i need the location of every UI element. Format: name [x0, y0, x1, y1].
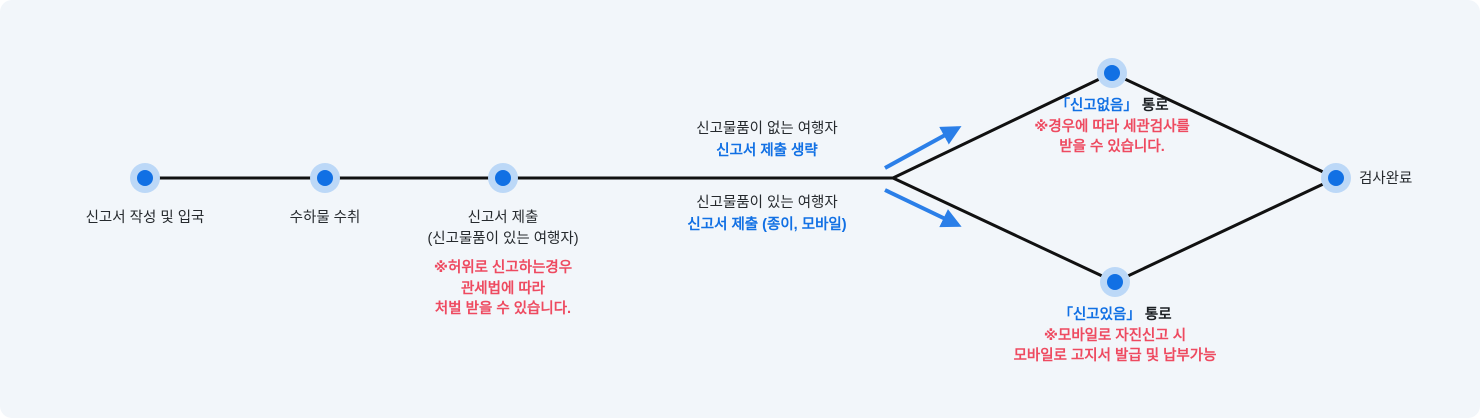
label-step-1: 신고서 작성 및 입국: [86, 208, 205, 229]
gate-no-declaration-suffix: 통로: [1138, 98, 1169, 114]
node-gate-no-declaration[interactable]: [1097, 58, 1127, 88]
node-final[interactable]: [1321, 163, 1351, 193]
label-step-3-line-1: 신고서 제출: [427, 208, 578, 229]
converge-line-lower: [1115, 178, 1336, 282]
gate-has-declaration-note-line-2: 모바일로 고지서 발급 및 납부가능: [1014, 346, 1217, 367]
gate-no-declaration-note-line-1: ※경우에 따라 세관검사를: [1034, 117, 1190, 138]
gate-no-declaration-title: 「신고없음」 통로: [1034, 96, 1190, 117]
branch-lower-action: 신고서 제출 (종이, 모바일): [687, 215, 846, 237]
branch-label-upper: 신고물품이 없는 여행자 신고서 제출 생략: [696, 119, 837, 163]
gate-has-declaration-suffix: 통로: [1141, 307, 1172, 323]
label-step-1-text: 신고서 작성 및 입국: [86, 208, 205, 229]
branch-lower-condition: 신고물품이 있는 여행자: [687, 193, 846, 215]
warning-step-3: ※허위로 신고하는경우 관세법에 따라 처벌 받을 수 있습니다.: [427, 258, 578, 320]
label-step-2: 수하물 수취: [290, 208, 361, 229]
node-core-icon: [137, 170, 153, 186]
node-core-icon: [495, 170, 511, 186]
node-gate-has-declaration[interactable]: [1100, 267, 1130, 297]
flow-diagram-canvas: 신고서 작성 및 입국 수하물 수취 신고서 제출 (신고물품이 있는 여행자)…: [0, 0, 1480, 418]
gate-has-declaration-title: 「신고있음」 통로: [1014, 305, 1217, 326]
label-final-text: 검사완료: [1359, 169, 1412, 190]
gate-has-declaration-note-line-1: ※모바일로 자진신고 시: [1014, 326, 1217, 347]
branch-line-lower: [893, 178, 1115, 282]
node-step-2[interactable]: [310, 163, 340, 193]
node-step-1[interactable]: [130, 163, 160, 193]
warning-step-3-line-3: 처벌 받을 수 있습니다.: [427, 299, 578, 320]
node-core-icon: [1107, 274, 1123, 290]
branch-upper-action: 신고서 제출 생략: [696, 141, 837, 163]
label-gate-no-declaration: 「신고없음」 통로 ※경우에 따라 세관검사를 받을 수 있습니다.: [1034, 96, 1190, 158]
node-step-3[interactable]: [488, 163, 518, 193]
branch-upper-condition: 신고물품이 없는 여행자: [696, 119, 837, 141]
gate-no-declaration-name: 「신고없음」: [1055, 98, 1137, 114]
gate-has-declaration-name: 「신고있음」: [1058, 307, 1140, 323]
label-step-3-line-2: (신고물품이 있는 여행자): [427, 229, 578, 250]
arrow-upper-branch: [885, 128, 958, 168]
node-core-icon: [317, 170, 333, 186]
label-final: 검사완료: [1359, 169, 1412, 190]
warning-step-3-line-1: ※허위로 신고하는경우: [427, 258, 578, 279]
label-step-3: 신고서 제출 (신고물품이 있는 여행자) ※허위로 신고하는경우 관세법에 따…: [427, 208, 578, 320]
gate-no-declaration-note-line-2: 받을 수 있습니다.: [1034, 137, 1190, 158]
branch-label-lower: 신고물품이 있는 여행자 신고서 제출 (종이, 모바일): [687, 193, 846, 237]
arrow-lower-branch: [885, 190, 958, 225]
label-step-2-text: 수하물 수취: [290, 208, 361, 229]
label-gate-has-declaration: 「신고있음」 통로 ※모바일로 자진신고 시 모바일로 고지서 발급 및 납부가…: [1014, 305, 1217, 367]
node-core-icon: [1104, 65, 1120, 81]
node-core-icon: [1328, 170, 1344, 186]
warning-step-3-line-2: 관세법에 따라: [427, 279, 578, 300]
